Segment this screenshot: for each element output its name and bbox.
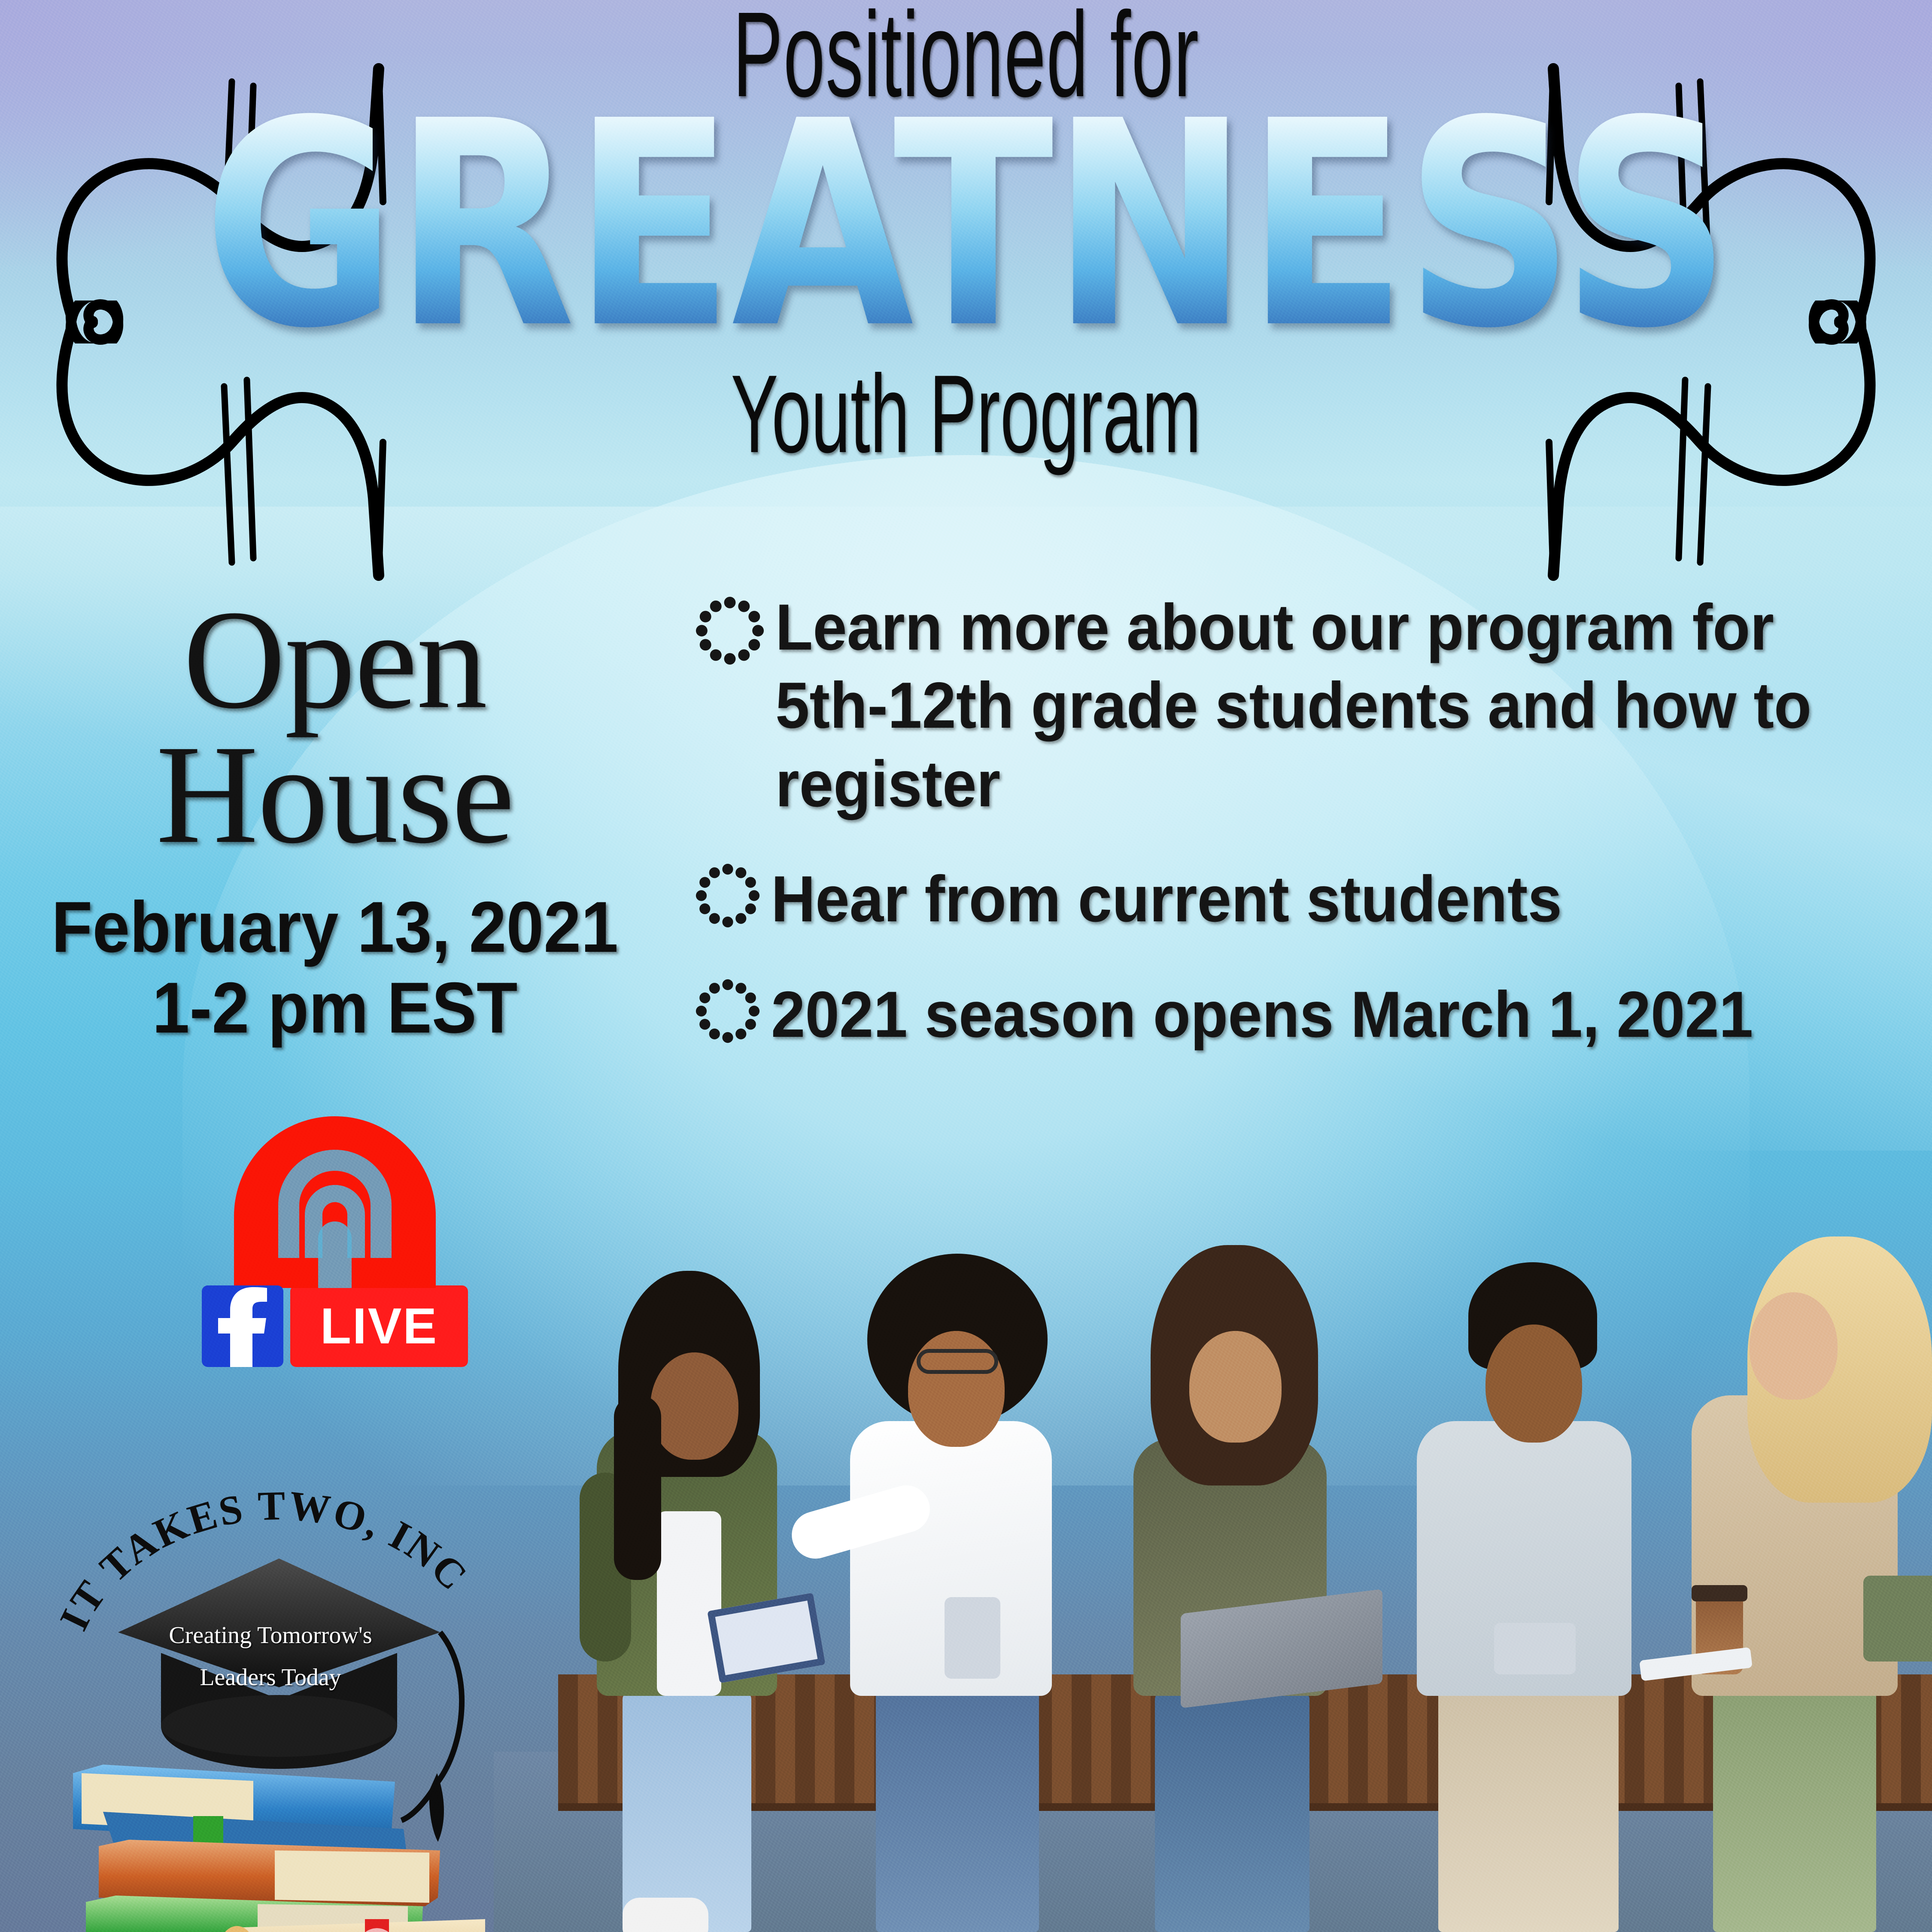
- bullet-text: Learn more about our program for 5th-12t…: [775, 588, 1841, 823]
- live-label: LIVE: [290, 1285, 468, 1367]
- dotted-circle-bullet-icon: [696, 862, 760, 930]
- student-figure-3: [1103, 1194, 1387, 1803]
- header-subline: Youth Program: [348, 358, 1584, 469]
- event-time: 1-2 pm EST: [24, 967, 647, 1048]
- poster-header: Positioned for GREATNESS Youth Program: [0, 0, 1932, 507]
- badge-row: LIVE: [202, 1285, 468, 1367]
- dotted-circle-bullet-icon: [696, 594, 764, 667]
- list-item: 2021 season opens March 1, 2021: [696, 975, 1911, 1054]
- event-details-column: Open House February 13, 2021 1-2 pm EST: [0, 592, 670, 1048]
- list-item: Hear from current students: [696, 860, 1911, 938]
- flyer-poster: Positioned for GREATNESS Youth Program O…: [0, 0, 1932, 1932]
- student-figure-2: [820, 1151, 1121, 1803]
- list-item: Learn more about our program for 5th-12t…: [696, 588, 1911, 823]
- dotted-circle-bullet-icon: [696, 977, 760, 1045]
- students-photo: [494, 1099, 1932, 1932]
- header-wordmark: GREATNESS: [164, 84, 1768, 367]
- bullet-text: Hear from current students: [771, 860, 1562, 938]
- event-title-line1: Open: [183, 581, 487, 738]
- organization-logo: IT TAKES TWO, INC: [52, 1473, 507, 1932]
- facebook-icon[interactable]: [202, 1285, 283, 1367]
- student-figure-5: [1666, 1151, 1932, 1803]
- bullet-text: 2021 season opens March 1, 2021: [771, 975, 1753, 1054]
- broadcast-icon: [234, 1116, 436, 1288]
- bullet-list: Learn more about our program for 5th-12t…: [696, 588, 1911, 1091]
- student-figure-1: [571, 1202, 837, 1803]
- event-title: Open House: [0, 592, 670, 862]
- student-figure-4: [1387, 1159, 1696, 1803]
- facebook-live-badge[interactable]: LIVE: [202, 1116, 468, 1367]
- event-title-line2: House: [0, 727, 670, 862]
- event-date: February 13, 2021: [24, 887, 647, 967]
